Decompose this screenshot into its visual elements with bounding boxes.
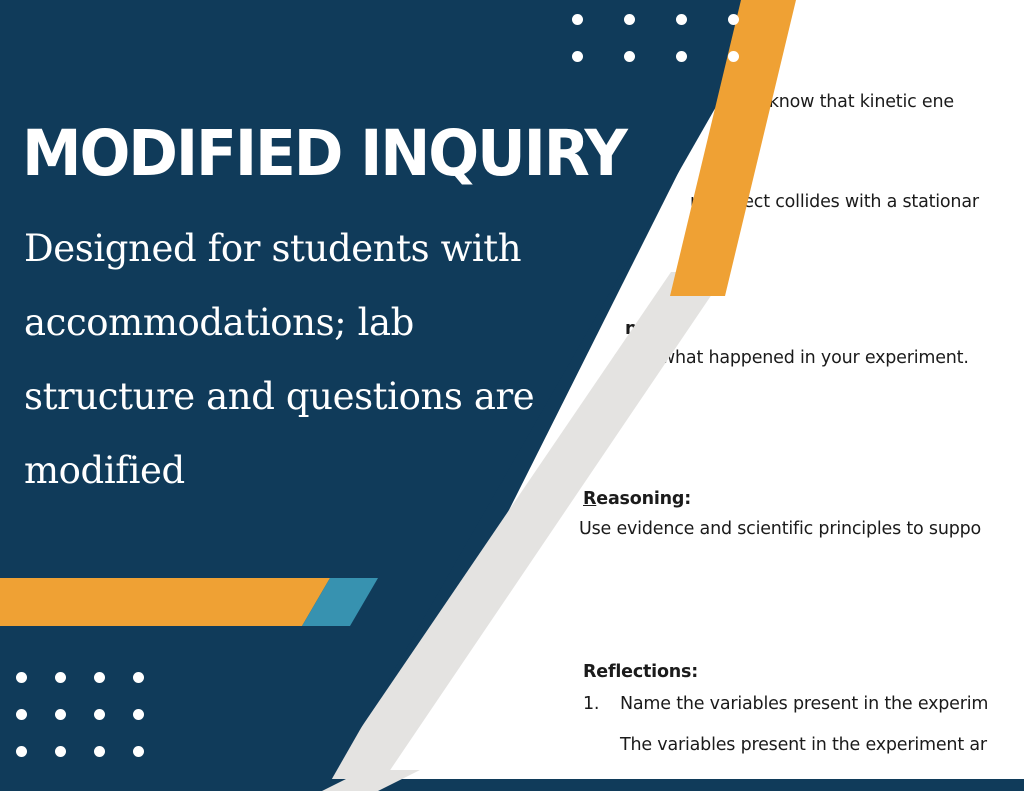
dot [676, 14, 687, 25]
dot [728, 14, 739, 25]
doc-line-reflection-q1: Name the variables present in the experi… [620, 694, 988, 714]
accent-orange-shape [0, 578, 330, 626]
dot [94, 672, 105, 683]
dot [55, 672, 66, 683]
bottom-accent-bar [0, 779, 1024, 791]
doc-heading-reasoning: Reasoning: [583, 489, 691, 509]
dot [16, 746, 27, 757]
doc-line-reflection-a1: The variables present in the experiment … [620, 735, 987, 755]
dot [55, 746, 66, 757]
doc-heading-reasoning-initial: R [583, 489, 596, 509]
dot-row [572, 14, 739, 25]
dot-grid-bottom-left [16, 672, 144, 791]
page-title: MODIFIED INQUIRY [22, 122, 626, 185]
dot [133, 672, 144, 683]
dot-row [572, 51, 739, 62]
dot [94, 709, 105, 720]
doc-heading-reasoning-rest: easoning [596, 489, 684, 509]
doc-line-reasoning-prompt: Use evidence and scientific principles t… [579, 519, 981, 539]
dot [572, 51, 583, 62]
dot-row [16, 709, 144, 720]
dot [133, 746, 144, 757]
doc-heading-reasoning-colon: : [684, 489, 691, 509]
dot [16, 672, 27, 683]
slide-canvas: do we know that kinetic ene ner? ng obje… [0, 0, 1024, 791]
accent-bar [0, 578, 400, 626]
dot-row [16, 746, 144, 757]
dot [572, 14, 583, 25]
dot [133, 709, 144, 720]
dot [728, 51, 739, 62]
dot [55, 709, 66, 720]
doc-list-marker-1: 1. [583, 694, 599, 714]
page-subtitle: Designed for students with accommodation… [24, 212, 584, 508]
dot [624, 14, 635, 25]
dot [16, 709, 27, 720]
dot-grid-top [572, 14, 739, 88]
dot-row [16, 672, 144, 683]
dot [676, 51, 687, 62]
doc-heading-reflections: Reflections: [583, 662, 698, 682]
dot [94, 746, 105, 757]
dot [624, 51, 635, 62]
